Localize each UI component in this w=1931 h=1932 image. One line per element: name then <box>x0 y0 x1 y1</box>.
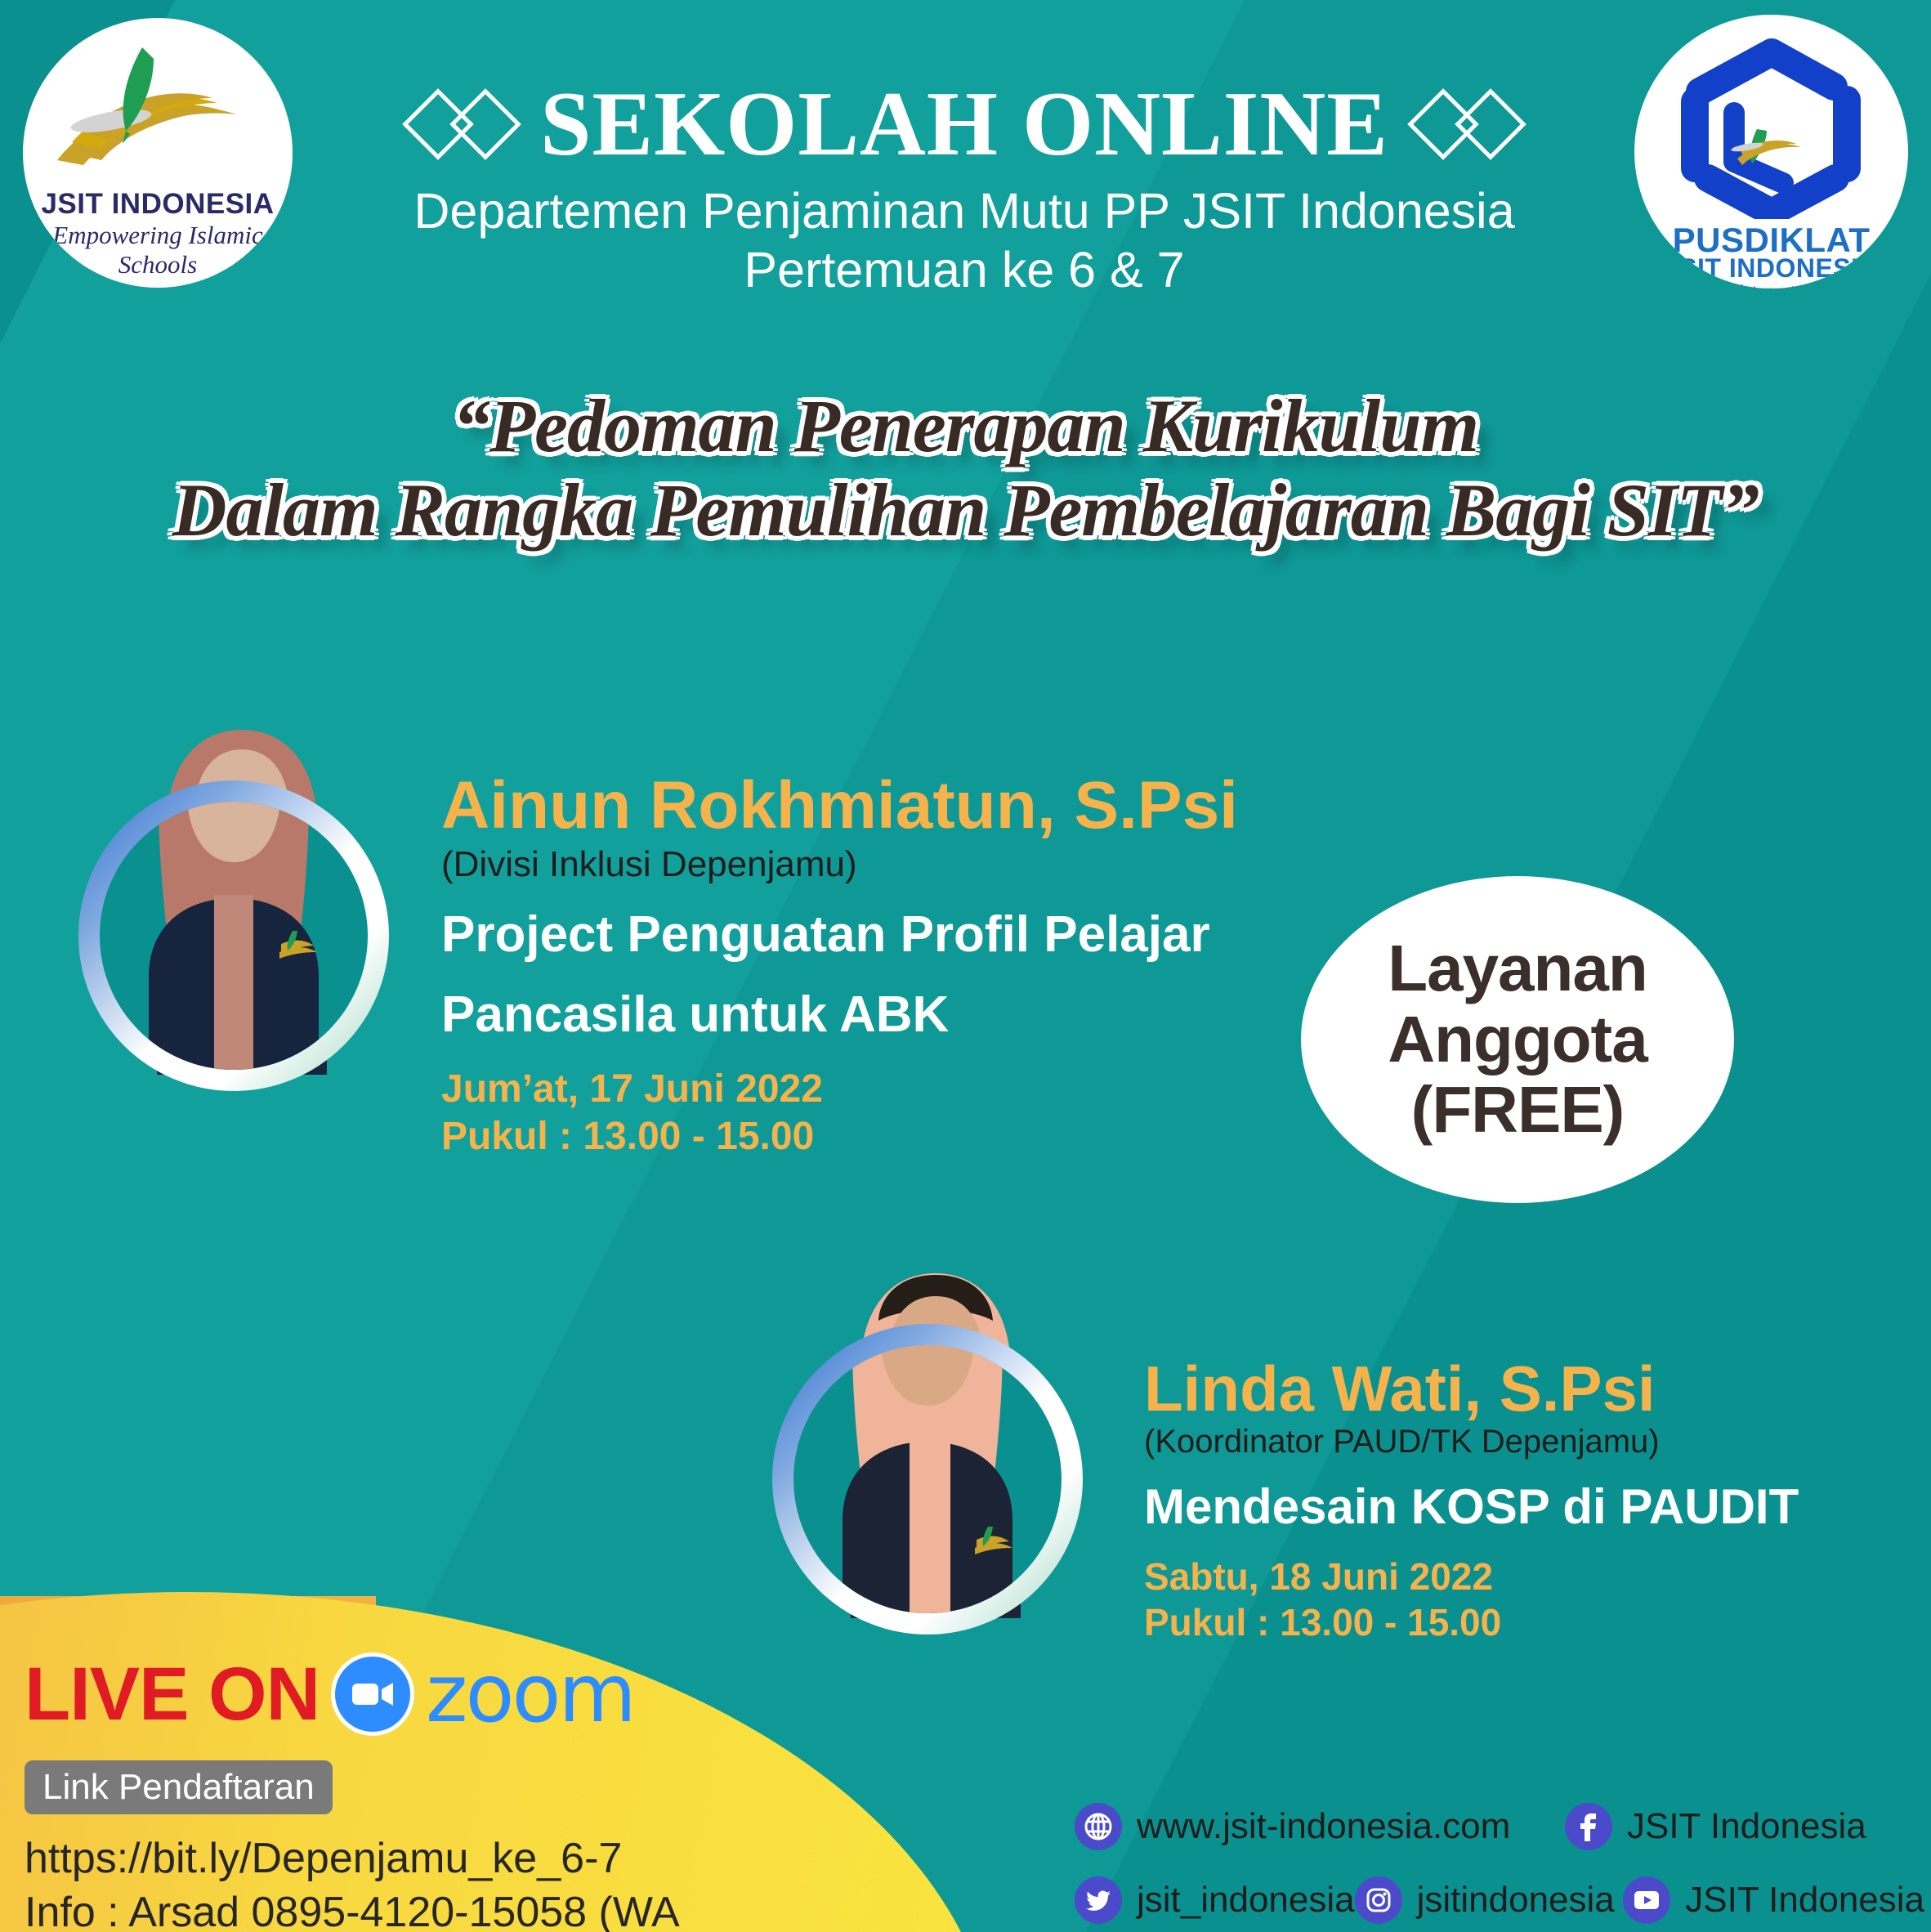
pusdiklat-logo-subname: JSIT INDONESIA <box>1634 253 1908 284</box>
live-on-label: LIVE ON <box>25 1657 320 1732</box>
page-title: “Pedoman Penerapan Kurikulum Dalam Rangk… <box>0 384 1931 552</box>
zoom-camera-icon <box>331 1652 414 1736</box>
speaker-2-time: Pukul : 13.00 - 15.00 <box>1144 1600 1920 1645</box>
instagram-glyph <box>1364 1885 1393 1915</box>
social-instagram-label: jsitindonesia <box>1417 1880 1615 1921</box>
social-website[interactable]: www.jsit-indonesia.com <box>1075 1803 1565 1850</box>
jsit-logo-name: JSIT INDONESIA <box>23 188 293 221</box>
jsit-feather-icon <box>23 29 293 189</box>
registration-link-chip: Link Pendaftaran <box>25 1760 333 1814</box>
pusdiklat-logo: PUSDIKLAT JSIT INDONESIA Partnering Inte… <box>1634 15 1908 288</box>
speaker-2-name: Linda Wati, S.Psi <box>1144 1357 1920 1420</box>
speaker-photo-clip-2 <box>793 1345 1062 1613</box>
speaker-2-date: Sabtu, 18 Juni 2022 <box>1144 1554 1920 1599</box>
social-footer: www.jsit-indonesia.com JSIT Indonesia js <box>1075 1790 1924 1932</box>
social-facebook-label: JSIT Indonesia <box>1627 1806 1866 1847</box>
live-registration-block: LIVE ON zoom Link Pendaftaran https://bi… <box>25 1652 711 1932</box>
page-title-line2: Dalam Rangka Pemulihan Pembelajaran Bagi… <box>0 468 1931 552</box>
jsit-logo-tagline: Empowering Islamic Schools <box>23 221 293 280</box>
speaker-photo-1 <box>78 682 405 1091</box>
social-instagram[interactable]: jsitindonesia <box>1355 1876 1624 1924</box>
poster-canvas: JSIT INDONESIA Empowering Islamic School… <box>0 0 1931 1932</box>
speaker-photo-2 <box>772 1226 1099 1635</box>
jsit-indonesia-logo: JSIT INDONESIA Empowering Islamic School… <box>23 18 293 288</box>
youtube-icon <box>1623 1876 1670 1924</box>
speaker-portrait-2-crop <box>793 1345 1062 1613</box>
speaker-2-role: (Koordinator PAUD/TK Depenjamu) <box>1144 1424 1920 1460</box>
speaker-1-time: Pukul : 13.00 - 15.00 <box>441 1113 1275 1161</box>
twitter-icon <box>1075 1876 1122 1924</box>
speaker-portrait-1-crop <box>100 802 368 1070</box>
contact-info-text: Info : Arsad 0895-4120-15058 (WA only) <box>25 1886 711 1932</box>
speaker-1-name: Ainun Rokhmiatun, S.Psi <box>441 772 1275 839</box>
speaker-photo-clip-1 <box>100 802 368 1070</box>
facebook-icon <box>1565 1803 1612 1850</box>
speaker-2-topic-line1: Mendesain KOSP di PAUDIT <box>1144 1478 1920 1536</box>
social-twitter[interactable]: jsit_indonesia <box>1075 1876 1355 1924</box>
speaker-1-role: (Divisi Inklusi Depenjamu) <box>441 844 1275 884</box>
zoom-wordmark: zoom <box>426 1654 634 1734</box>
live-on-zoom-row: LIVE ON zoom <box>25 1652 711 1736</box>
headline-row: SEKOLAH ONLINE <box>311 78 1618 171</box>
pusdiklat-hexagon-icon <box>1652 31 1890 219</box>
social-website-label: www.jsit-indonesia.com <box>1137 1806 1510 1847</box>
free-badge-line3: (FREE) <box>1411 1075 1625 1145</box>
video-camera-glyph <box>351 1680 395 1708</box>
diamond-ornament-right-icon <box>1419 99 1514 150</box>
speaker-1-date: Jum’at, 17 Juni 2022 <box>441 1066 1275 1113</box>
social-row-1: www.jsit-indonesia.com JSIT Indonesia <box>1075 1790 1924 1863</box>
globe-icon <box>1075 1803 1122 1850</box>
youtube-glyph <box>1631 1888 1662 1912</box>
social-youtube[interactable]: JSIT Indonesia <box>1623 1876 1924 1924</box>
header-subtitle: Departemen Penjaminan Mutu PP JSIT Indon… <box>311 182 1618 241</box>
header-session: Pertemuan ke 6 & 7 <box>311 241 1618 300</box>
page-title-line1: “Pedoman Penerapan Kurikulum <box>0 384 1931 468</box>
headline-title: SEKOLAH ONLINE <box>540 78 1388 171</box>
speaker-1-topic-line1: Project Penguatan Profil Pelajar <box>441 906 1275 964</box>
social-row-2: jsit_indonesia jsitindonesia <box>1075 1863 1924 1932</box>
social-youtube-label: JSIT Indonesia <box>1685 1880 1924 1921</box>
globe-glyph <box>1083 1811 1114 1842</box>
social-twitter-label: jsit_indonesia <box>1137 1880 1355 1921</box>
twitter-bird-glyph <box>1084 1885 1113 1915</box>
social-facebook[interactable]: JSIT Indonesia <box>1565 1803 1866 1850</box>
header-block: SEKOLAH ONLINE Departemen Penjaminan Mut… <box>311 78 1618 300</box>
registration-url[interactable]: https://bit.ly/Depenjamu_ke_6-7 <box>25 1832 711 1886</box>
speaker-1-topic-line2: Pancasila untuk ABK <box>441 986 1275 1044</box>
facebook-glyph <box>1573 1811 1604 1842</box>
free-badge-line2: Anggota <box>1388 1004 1647 1075</box>
free-badge: Layanan Anggota (FREE) <box>1301 876 1734 1203</box>
speaker-info-2: Linda Wati, S.Psi (Koordinator PAUD/TK D… <box>1144 1357 1920 1645</box>
pusdiklat-logo-tagline: Partnering Integrated Education <box>1634 280 1908 288</box>
instagram-icon <box>1355 1876 1402 1924</box>
speaker-info-1: Ainun Rokhmiatun, S.Psi (Divisi Inklusi … <box>441 772 1275 1160</box>
diamond-ornament-left-icon <box>414 99 509 150</box>
free-badge-line1: Layanan <box>1388 933 1647 1004</box>
